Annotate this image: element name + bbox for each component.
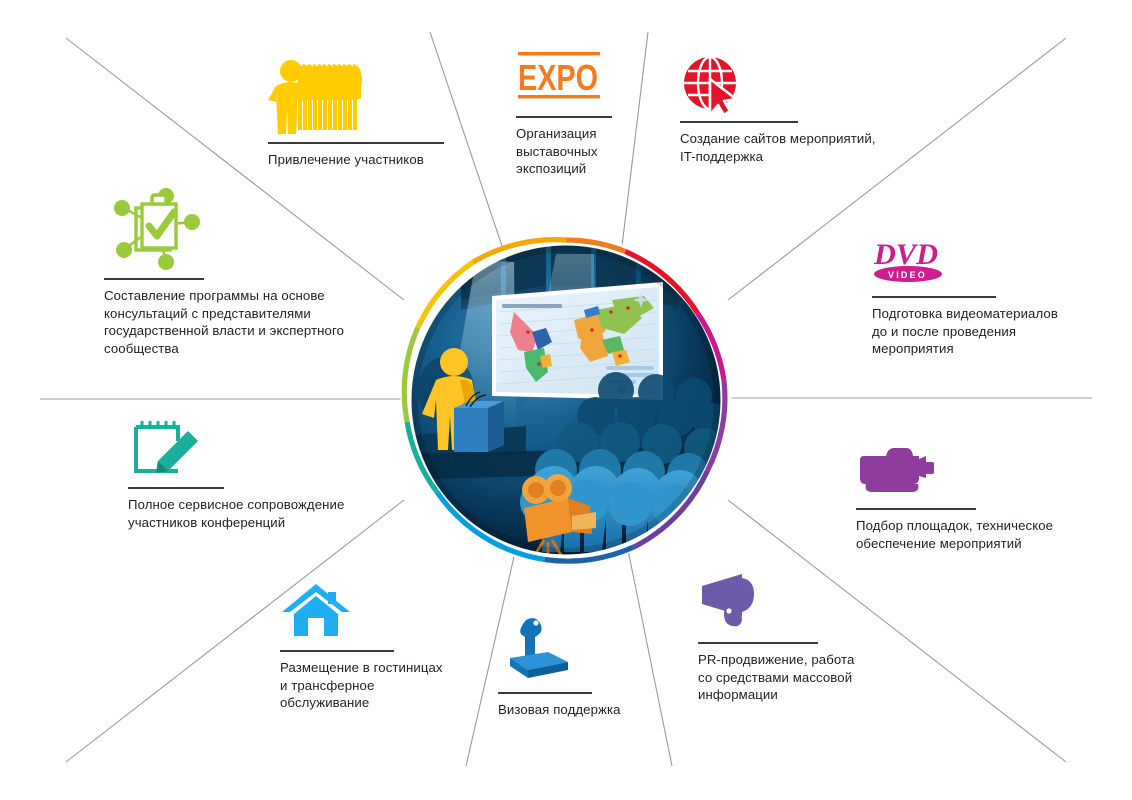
node-pr-media[interactable]: PR-продвижение, работа со средствами мас… bbox=[698, 572, 908, 704]
node-rule bbox=[280, 650, 394, 652]
rubber-stamp-icon bbox=[498, 614, 668, 686]
node-rule bbox=[516, 116, 612, 118]
node-caption: Визовая поддержка bbox=[498, 701, 668, 719]
house-icon bbox=[280, 582, 500, 644]
globe-cursor-icon bbox=[680, 55, 895, 115]
node-rule bbox=[698, 642, 818, 644]
ring-arc-cyan bbox=[437, 492, 545, 560]
expo-logo-icon: EXPO bbox=[516, 50, 636, 110]
camcorder-icon bbox=[856, 442, 1106, 502]
node-caption: Привлечение участников bbox=[268, 151, 478, 169]
node-caption: Полное сервисное сопровождение участнико… bbox=[128, 496, 398, 531]
node-attract-participants[interactable]: Привлечение участников bbox=[268, 58, 478, 169]
infographic-canvas: Привлечение участников EXPO Организация … bbox=[0, 0, 1132, 800]
node-rule bbox=[872, 296, 996, 298]
node-full-service[interactable]: Полное сервисное сопровождение участнико… bbox=[128, 415, 398, 531]
megaphone-icon bbox=[698, 572, 908, 636]
node-rule bbox=[128, 487, 224, 489]
node-dvd-video[interactable]: DVD VIDEO Подготовка видеоматериалов до … bbox=[872, 238, 1102, 358]
node-caption: Подбор площадок, техническое обеспечение… bbox=[856, 517, 1106, 552]
node-rule bbox=[680, 121, 798, 123]
node-venue-technical[interactable]: Подбор площадок, техническое обеспечение… bbox=[856, 442, 1106, 552]
node-visa-support[interactable]: Визовая поддержка bbox=[498, 614, 668, 719]
node-caption: Подготовка видеоматериалов до и после пр… bbox=[872, 305, 1102, 358]
dvd-logo-subtext: VIDEO bbox=[888, 270, 927, 280]
crowd-people-icon bbox=[268, 58, 478, 136]
clipboard-network-icon bbox=[104, 186, 394, 272]
node-rule bbox=[498, 692, 592, 694]
node-rule bbox=[268, 142, 444, 144]
node-rule bbox=[104, 278, 204, 280]
node-it-support[interactable]: Создание сайтов мероприятий, IT-поддержк… bbox=[680, 55, 895, 165]
node-caption: PR-продвижение, работа со средствами мас… bbox=[698, 651, 908, 704]
node-caption: Составление программы на основе консульт… bbox=[104, 287, 394, 357]
node-rule bbox=[856, 508, 976, 510]
node-expo-exposition[interactable]: EXPO Организация выставочных экспозиций bbox=[516, 50, 636, 178]
dvd-video-logo-icon: DVD VIDEO bbox=[872, 238, 1102, 290]
node-caption: Создание сайтов мероприятий, IT-поддержк… bbox=[680, 130, 895, 165]
notepad-pencil-icon bbox=[128, 415, 398, 481]
node-program-development[interactable]: Составление программы на основе консульт… bbox=[104, 186, 394, 357]
expo-logo-text: EXPO bbox=[518, 57, 598, 98]
node-caption: Размещение в гостиницах и трансферное об… bbox=[280, 659, 500, 712]
node-caption: Организация выставочных экспозиций bbox=[516, 125, 636, 178]
node-hotel-transfer[interactable]: Размещение в гостиницах и трансферное об… bbox=[280, 582, 500, 712]
